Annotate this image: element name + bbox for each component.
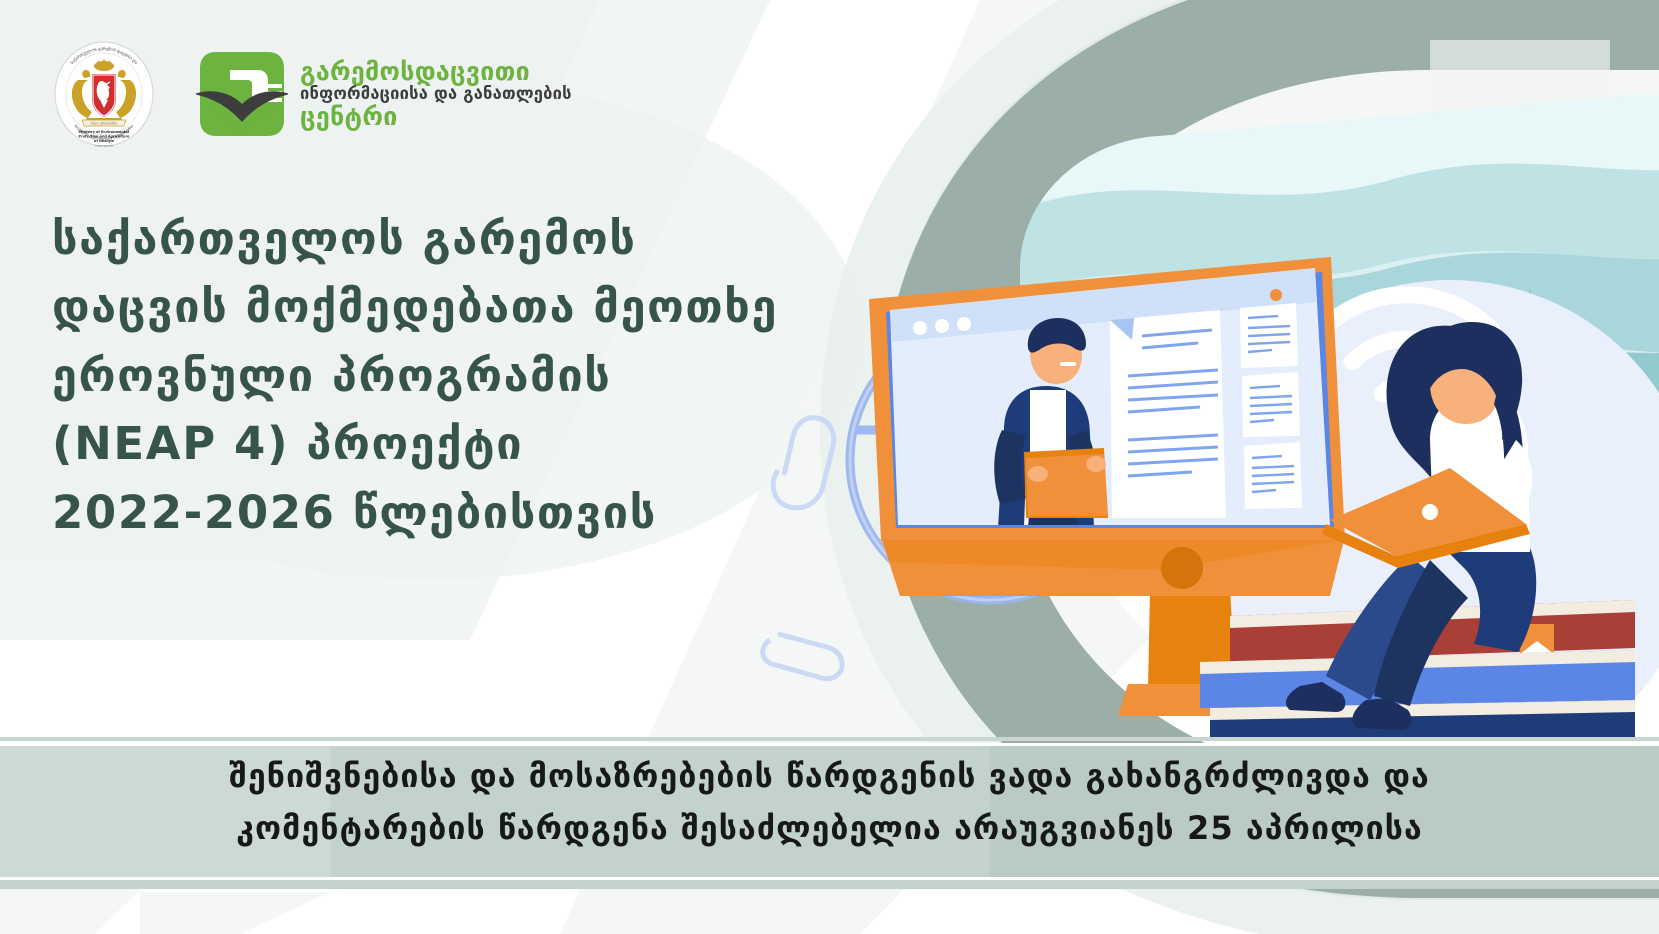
title-line-1: საქართველოს გარემოს (52, 205, 772, 273)
poster-canvas: საქართველოს გარემოს დაცვისა და სოფლის მე… (0, 0, 1659, 934)
seal-caption-2: Protection and Agriculture (79, 135, 131, 139)
title-line-4: (NEAP 4) პროექტი (52, 410, 772, 478)
header-logos: საქართველოს გარემოს დაცვისა და სოფლის მე… (48, 38, 572, 150)
banner-text: შენიშვნებისა და მოსაზრებების წარდგენის ვ… (0, 751, 1659, 855)
eiec-logo-line1: გარემოსდაცვითი (300, 59, 572, 85)
deadline-banner: შენიშვნებისა და მოსაზრებების წარდგენის ვ… (0, 737, 1659, 892)
open-book-leaf-logo-icon (196, 48, 288, 140)
title-line-2: დაცვის მოქმედებათა მეოთხე (52, 273, 772, 341)
online-document-review-illustration (730, 0, 1659, 740)
banner-line-2: კომენტარების წარდგენა შესაძლებელია არაუგ… (0, 803, 1659, 855)
eiec-logo: გარემოსდაცვითი ინფორმაციისა და განათლები… (196, 48, 572, 140)
seal-motto: ძალა ერთობაშია (91, 121, 118, 125)
seal-caption-1: Ministry of Environmental (79, 130, 129, 134)
seal-caption-4: mepa.gov.ge (95, 143, 113, 147)
title-line-3: ეროვნული პროგრამის (52, 342, 772, 410)
paperclip-icon (763, 418, 842, 679)
eiec-logo-line3: ცენტრი (300, 104, 572, 130)
banner-rule-top (0, 737, 1659, 741)
ministry-seal: საქართველოს გარემოს დაცვისა და სოფლის მე… (48, 38, 160, 150)
banner-rule-bottom (0, 880, 1659, 889)
eiec-logo-line2: ინფორმაციისა და განათლების (300, 86, 572, 103)
banner-line-1: შენიშვნებისა და მოსაზრებების წარდგენის ვ… (0, 751, 1659, 803)
title-line-5: 2022-2026 წლებისთვის (52, 479, 772, 547)
poster-title: საქართველოს გარემოს დაცვის მოქმედებათა მ… (52, 205, 772, 547)
